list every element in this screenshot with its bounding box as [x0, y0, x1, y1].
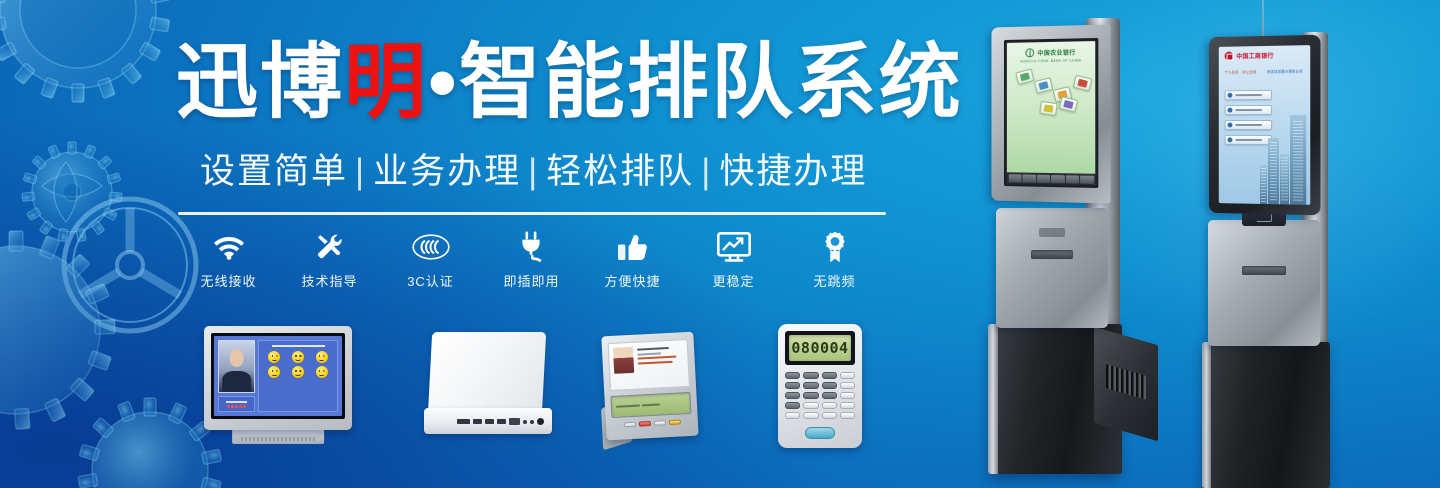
- host-base: [424, 408, 552, 434]
- key-yellow[interactable]: [668, 419, 680, 425]
- keypad-enter-button[interactable]: [805, 427, 835, 439]
- star: [235, 405, 238, 408]
- id-line: [637, 352, 661, 355]
- title-part-4: 智能排队系统: [459, 37, 963, 128]
- feature-label: 更稳定: [712, 271, 754, 290]
- screen-tab[interactable]: [1037, 174, 1050, 182]
- key[interactable]: [785, 372, 800, 379]
- rating-panel: [258, 340, 338, 412]
- key[interactable]: [785, 412, 800, 419]
- kiosk-base-edge: [988, 324, 998, 474]
- key[interactable]: [803, 382, 818, 389]
- star: [231, 405, 234, 408]
- screen-tab[interactable]: [1065, 175, 1079, 183]
- service-tile[interactable]: [1015, 68, 1034, 85]
- subtitle-separator: |: [521, 152, 546, 191]
- evaluator-tilt: [595, 325, 705, 448]
- kiosk-base-edge: [1202, 342, 1211, 488]
- key[interactable]: [803, 392, 818, 399]
- evaluator-lcd: [610, 392, 691, 418]
- kiosk-head: 中国工商银行 个人业务 · 对公业务 请选择您要办理的业务: [1209, 35, 1320, 215]
- product-host-controller: [424, 332, 552, 440]
- staff-name-line: [226, 401, 247, 403]
- port: [497, 419, 506, 424]
- monitor-vent: [241, 437, 314, 441]
- divider: [178, 212, 886, 215]
- key[interactable]: [785, 392, 800, 399]
- skyline-graphic: [1262, 90, 1310, 205]
- wifi-icon: [213, 228, 245, 266]
- bank-name: 中国农业银行: [1037, 48, 1075, 58]
- staff-panel: [218, 340, 255, 412]
- host-panel: [428, 332, 546, 416]
- keypad-body: 080004: [778, 324, 862, 448]
- keypad-keys[interactable]: [785, 372, 855, 419]
- key[interactable]: [840, 392, 855, 399]
- rating-faces: [261, 351, 335, 378]
- ccc-icon: [412, 228, 450, 266]
- award-icon: [823, 228, 847, 266]
- key[interactable]: [822, 402, 837, 409]
- feature-item-plugplay: 即插即用: [481, 228, 582, 290]
- key[interactable]: [822, 392, 837, 399]
- ticket-slot: [1031, 250, 1073, 259]
- screen-tab-bar[interactable]: [1007, 172, 1095, 185]
- subtitle-item-3: 快捷办理: [719, 152, 867, 191]
- kiosk-showcase: 中国农业银行 AGRICULTURAL BANK OF CHINA: [970, 0, 1440, 488]
- kiosk-vent: [1106, 364, 1146, 399]
- key[interactable]: [623, 422, 635, 428]
- title-part-1: 迅博: [176, 37, 344, 128]
- screen-tab[interactable]: [1080, 175, 1094, 183]
- evaluator-body: [601, 332, 698, 441]
- bank-subtitle-2: 请选择您要办理的业务: [1267, 69, 1303, 73]
- port-power: [537, 418, 544, 425]
- star: [239, 405, 242, 408]
- product-queue-keypad: 080004: [778, 324, 862, 448]
- building: [1268, 138, 1279, 204]
- key[interactable]: [653, 420, 665, 426]
- product-showcase: 080004: [0, 318, 920, 458]
- kiosk-mid-panel: [1208, 220, 1320, 346]
- feature-item-stable: 更稳定: [683, 228, 784, 290]
- bank-logo-icon: [1026, 48, 1035, 57]
- key-red[interactable]: [638, 421, 650, 427]
- screen-tab[interactable]: [1008, 174, 1021, 182]
- key[interactable]: [822, 412, 837, 419]
- face-unsatisfied: [292, 366, 304, 378]
- bank-name: 中国工商银行: [1236, 51, 1273, 61]
- bank-subtitle: 个人业务 · 对公业务: [1225, 70, 1257, 74]
- id-text-lines: [637, 344, 685, 384]
- staff-rating-stars: [227, 405, 246, 408]
- key[interactable]: [822, 372, 837, 379]
- feature-list: 无线接收 技术指导: [178, 228, 888, 294]
- kiosk-mid-panel: [996, 208, 1108, 328]
- kiosk-screen-ui[interactable]: 中国工商银行 个人业务 · 对公业务 请选择您要办理的业务: [1219, 45, 1311, 205]
- feature-label: 方便快捷: [604, 271, 660, 290]
- monitor-ui: [214, 336, 342, 416]
- service-tile[interactable]: [1059, 96, 1079, 113]
- lcd-line: [616, 405, 640, 408]
- id-line: [637, 347, 669, 351]
- rating-question: [272, 345, 325, 347]
- key[interactable]: [803, 372, 818, 379]
- staff-photo: [218, 340, 255, 393]
- id-photo: [613, 347, 634, 374]
- feature-item-nohop: 无跳频: [784, 228, 885, 290]
- feature-item-support: 技术指导: [279, 228, 380, 290]
- star: [243, 405, 246, 408]
- feature-item-wireless: 无线接收: [178, 228, 279, 290]
- key[interactable]: [840, 412, 855, 419]
- key[interactable]: [785, 382, 800, 389]
- plug-icon: [518, 228, 546, 266]
- face-very-satisfied: [268, 351, 280, 363]
- kiosk-screen-bezel: 中国农业银行 AGRICULTURAL BANK OF CHINA: [1004, 38, 1098, 188]
- banner-content: 迅博明•智能排队系统 设置简单|业务办理|轻松排队|快捷办理 无线接收: [0, 0, 960, 488]
- keypad-display: 080004: [789, 335, 851, 361]
- kiosk-screen-ui[interactable]: 中国农业银行 AGRICULTURAL BANK OF CHINA: [1007, 41, 1095, 185]
- screen-tab[interactable]: [1022, 174, 1035, 182]
- face-satisfied: [292, 351, 304, 363]
- port: [485, 419, 494, 424]
- port-jack: [530, 420, 534, 424]
- service-tile[interactable]: [1073, 75, 1093, 92]
- key[interactable]: [840, 402, 855, 409]
- staff-name-block: [218, 396, 255, 412]
- keypad-screen-bezel: 080004: [785, 331, 855, 365]
- product-desktop-evaluator: [598, 328, 702, 446]
- service-tile[interactable]: [1034, 77, 1053, 94]
- key[interactable]: [840, 372, 855, 379]
- kiosk-head: 中国农业银行 AGRICULTURAL BANK OF CHINA: [991, 24, 1110, 203]
- building: [1280, 154, 1289, 204]
- kiosk-base: [1206, 342, 1330, 488]
- building: [1290, 115, 1306, 205]
- subtitle-item-2: 轻松排队: [546, 152, 694, 191]
- key[interactable]: [785, 402, 800, 409]
- port-ethernet: [509, 418, 520, 425]
- monitor-screen: [211, 333, 345, 419]
- key[interactable]: [803, 412, 818, 419]
- subtitle-separator: |: [694, 152, 719, 191]
- kiosk-agricultural-bank: 中国农业银行 AGRICULTURAL BANK OF CHINA: [990, 18, 1140, 488]
- bank-brand: 中国工商银行: [1219, 45, 1311, 61]
- evaluator-id-card: [608, 339, 690, 391]
- title-part-accent: 明: [344, 37, 428, 128]
- feature-label: 即插即用: [503, 271, 559, 290]
- title-bullet: •: [428, 37, 459, 128]
- bank-brand: 中国农业银行: [1026, 48, 1076, 58]
- thumbs-up-icon: [617, 228, 649, 266]
- port: [457, 419, 470, 424]
- subtitle: 设置简单|业务办理|轻松排队|快捷办理: [200, 150, 867, 194]
- bank-logo-icon: [1225, 52, 1234, 61]
- evaluator-keys[interactable]: [612, 419, 692, 428]
- face-very-unsatisfied: [316, 366, 328, 378]
- kiosk-base-side: [1094, 327, 1158, 441]
- feature-label: 3C认证: [407, 271, 454, 290]
- star: [227, 405, 230, 408]
- service-tiles[interactable]: [1015, 70, 1087, 125]
- building: [1260, 165, 1267, 204]
- subtitle-item-0: 设置简单: [200, 152, 348, 191]
- face-neutral: [316, 351, 328, 363]
- monitor-chart-icon: [717, 228, 751, 266]
- port: [473, 419, 482, 424]
- screen-tab[interactable]: [1051, 175, 1064, 183]
- product-evaluation-monitor: [204, 326, 352, 444]
- feature-label: 无跳频: [813, 271, 855, 290]
- id-line: [637, 356, 676, 360]
- feature-item-3c: 3C认证: [380, 228, 481, 290]
- kiosk-logo-plate: [1039, 228, 1065, 237]
- ticket-slot: [1242, 266, 1286, 275]
- feature-label: 无线接收: [200, 271, 256, 290]
- id-line: [638, 360, 673, 364]
- subtitle-separator: |: [348, 152, 373, 191]
- feature-item-convenient: 方便快捷: [582, 228, 683, 290]
- lcd-line: [642, 404, 660, 407]
- monitor-body: [204, 326, 352, 430]
- monitor-stand: [232, 429, 324, 444]
- promo-banner: 迅博明•智能排队系统 设置简单|业务办理|轻松排队|快捷办理 无线接收: [0, 0, 1440, 488]
- key[interactable]: [803, 402, 818, 409]
- key[interactable]: [840, 382, 855, 389]
- port-jack: [523, 420, 527, 424]
- host-port-row: [457, 418, 544, 425]
- feature-label: 技术指导: [301, 271, 357, 290]
- subtitle-item-1: 业务办理: [373, 152, 521, 191]
- tools-icon: [315, 228, 345, 266]
- face-dissatisfied: [268, 366, 280, 378]
- bank-subtitle: AGRICULTURAL BANK OF CHINA: [1020, 58, 1081, 63]
- page-title: 迅博明•智能排队系统: [176, 40, 963, 126]
- service-tile[interactable]: [1039, 101, 1057, 116]
- kiosk-icbc: 中国工商银行 个人业务 · 对公业务 请选择您要办理的业务: [1206, 26, 1356, 488]
- key[interactable]: [822, 382, 837, 389]
